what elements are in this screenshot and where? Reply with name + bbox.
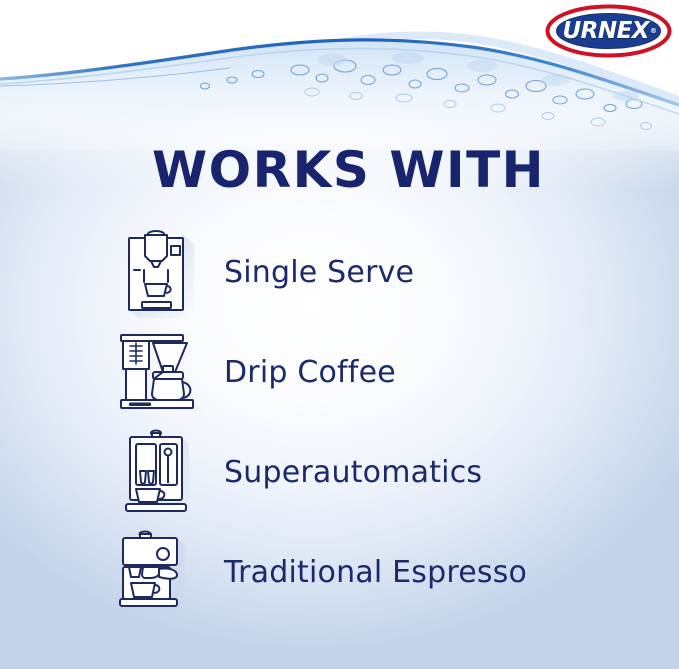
single-serve-machine-icon [110,224,206,320]
list-item: Traditional Espresso [0,522,679,622]
superautomatic-machine-icon [110,424,206,520]
works-with-poster: URNEX® WORKS WITH [0,0,679,669]
drip-coffee-maker-icon [110,324,206,420]
list-item-label: Traditional Espresso [224,555,527,590]
registered-mark: ® [650,27,657,35]
urnex-wordmark: URNEX [562,18,649,44]
list-item: Superautomatics [0,422,679,522]
list-item-label: Single Serve [224,255,414,290]
list-item: Single Serve [0,222,679,322]
espresso-machine-icon [110,524,206,620]
list-item-label: Drip Coffee [224,355,396,390]
list-item-label: Superautomatics [224,455,482,490]
compatibility-list: Single Serve [0,222,679,622]
list-item: Drip Coffee [0,322,679,422]
urnex-logo-text: URNEX® [545,4,672,58]
page-title: WORKS WITH [152,143,545,197]
urnex-logo: URNEX® [545,4,672,58]
